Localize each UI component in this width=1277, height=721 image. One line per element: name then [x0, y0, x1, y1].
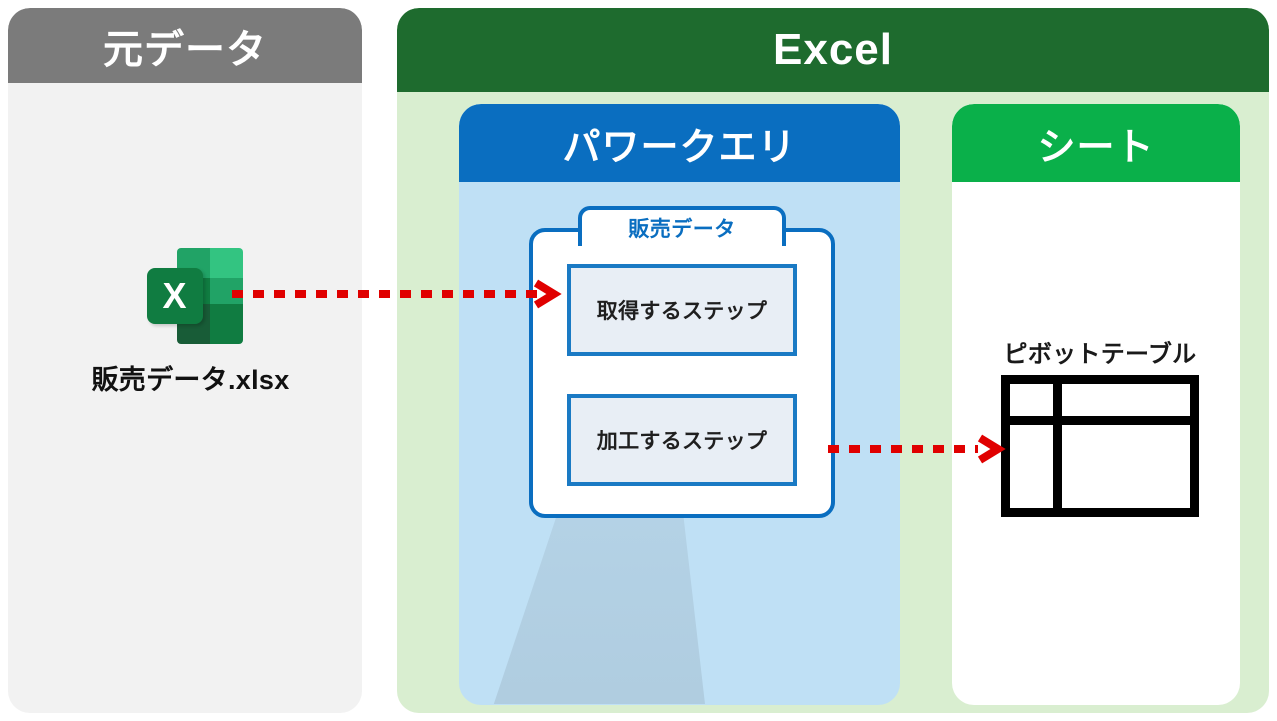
pivot-table-column-separator [1053, 384, 1062, 508]
excel-icon-tile-top-right [210, 248, 243, 278]
excel-icon-x-glyph: X [162, 278, 186, 314]
arrow-query-to-pivot [828, 434, 1010, 464]
excel-file-icon: X [139, 246, 243, 346]
excel-panel-header: Excel [397, 8, 1269, 92]
query-step-transform[interactable]: 加工するステップ [567, 394, 797, 486]
query-card[interactable]: 販売データ 取得するステップ 加工するステップ [529, 206, 835, 518]
pivot-table-row-separator [1010, 416, 1190, 425]
power-query-title: パワークエリ [562, 116, 796, 171]
query-step-acquire[interactable]: 取得するステップ [567, 264, 797, 356]
arrow-source-to-query [232, 279, 568, 309]
sheet-panel-header: シート [952, 104, 1240, 182]
source-data-title: 元データ [103, 17, 267, 75]
pivot-table-grid [1001, 375, 1199, 517]
arrow-source-to-query-head [532, 279, 562, 309]
source-file-name: 販売データ.xlsx [91, 358, 289, 397]
query-card-tab-mask [582, 240, 782, 252]
query-step-acquire-label: 取得するステップ [597, 295, 767, 325]
diagram-canvas: 元データ X 販売データ.xlsx Excel パワークエリ [0, 0, 1277, 721]
source-data-panel: 元データ X 販売データ.xlsx [8, 8, 362, 713]
excel-icon-x-badge: X [147, 268, 203, 324]
query-card-tab-label: 販売データ [628, 213, 736, 243]
arrow-query-to-pivot-head [976, 434, 1006, 464]
excel-panel-title: Excel [773, 25, 893, 75]
source-file-block: X 販売データ.xlsx [68, 246, 313, 397]
sheet-panel-title: シート [1037, 116, 1154, 171]
arrow-source-to-query-line [232, 290, 537, 298]
pivot-table-block: ピボットテーブル [995, 334, 1205, 517]
power-query-header: パワークエリ [459, 104, 900, 182]
excel-icon-tile-bottom-right [210, 304, 243, 344]
query-step-transform-label: 加工するステップ [597, 425, 767, 455]
source-data-header: 元データ [8, 8, 362, 83]
arrow-query-to-pivot-line [828, 445, 978, 453]
pivot-table-label: ピボットテーブル [1004, 334, 1197, 369]
